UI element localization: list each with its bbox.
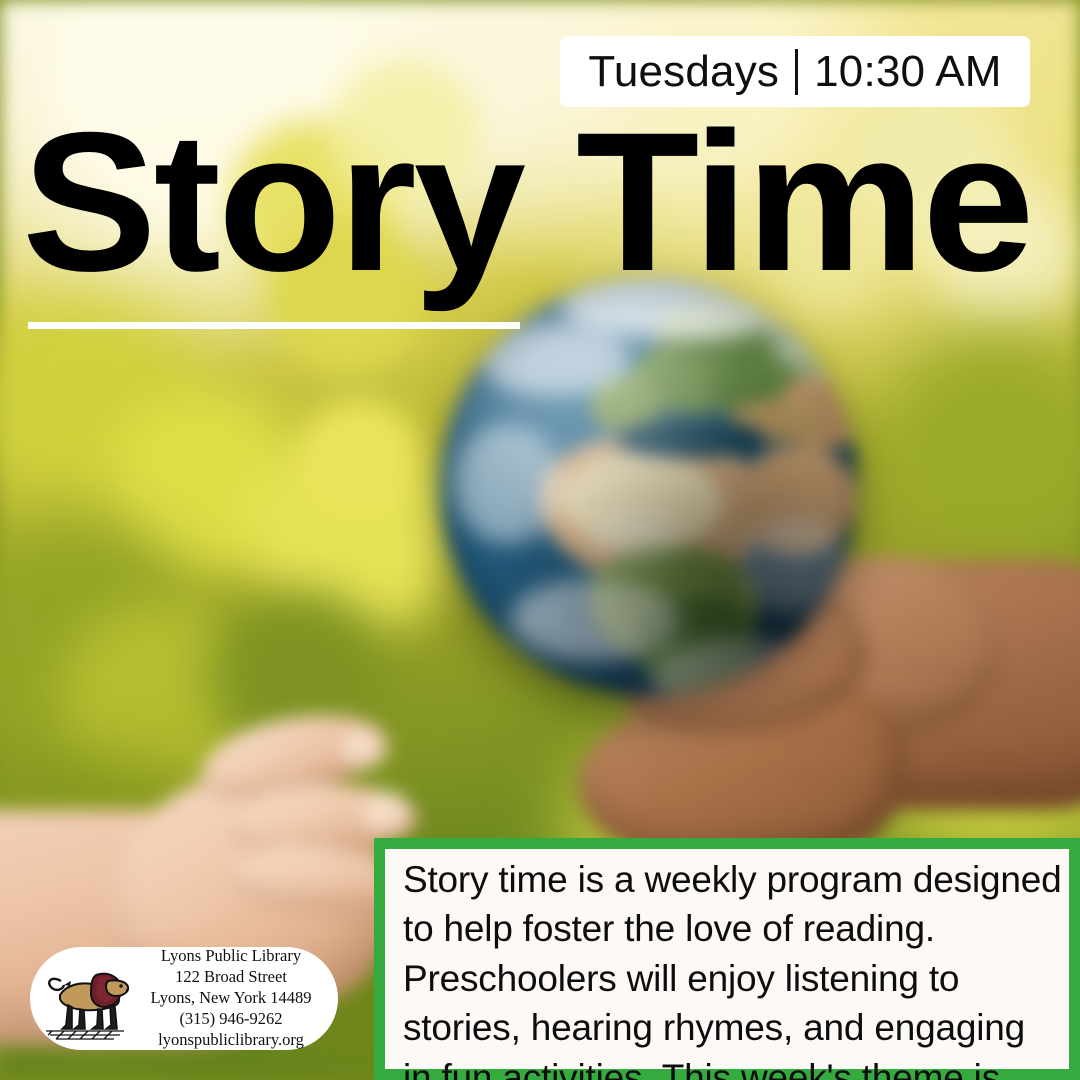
description-text: Story time is a weekly program designed … — [403, 855, 1063, 1080]
story-time-poster: Tuesdays 10:30 AM Story Time Story time … — [0, 0, 1080, 1080]
title-underline-rule — [28, 322, 520, 329]
library-street: 122 Broad Street — [132, 967, 330, 988]
library-logo-badge: Lyons Public Library 122 Broad Street Ly… — [30, 947, 338, 1050]
library-phone: (315) 946-9262 — [132, 1009, 330, 1030]
lion-icon — [36, 955, 132, 1043]
schedule-separator-icon — [795, 49, 798, 95]
library-name: Lyons Public Library — [132, 946, 330, 967]
library-contact-block: Lyons Public Library 122 Broad Street Ly… — [132, 946, 338, 1051]
earth-globe — [440, 278, 858, 696]
schedule-day: Tuesdays — [588, 50, 779, 94]
library-city: Lyons, New York 14489 — [132, 988, 330, 1009]
library-website: lyonspubliclibrary.org — [132, 1030, 330, 1051]
description-box: Story time is a weekly program designed … — [374, 838, 1080, 1080]
globe-shading — [440, 278, 858, 696]
page-title: Story Time — [22, 103, 1031, 301]
schedule-time: 10:30 AM — [814, 50, 1002, 94]
